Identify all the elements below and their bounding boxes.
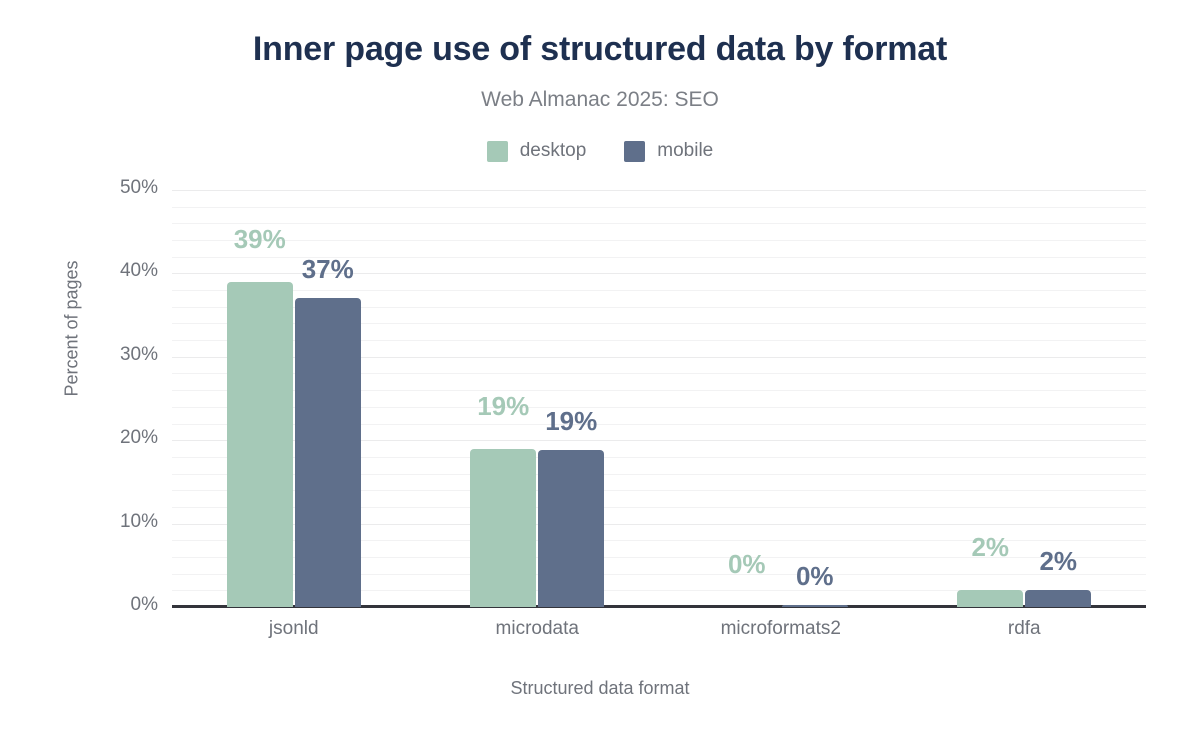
- legend-swatch-desktop: [487, 141, 508, 162]
- legend-item-desktop[interactable]: desktop: [487, 140, 587, 162]
- gridline: [172, 207, 1146, 208]
- gridline: [172, 290, 1146, 291]
- y-tick-label: 20%: [80, 427, 158, 449]
- bar-chart: Inner page use of structured data by for…: [0, 0, 1200, 742]
- bar-value-label-microdata-mobile: 19%: [516, 406, 626, 437]
- legend-label-mobile: mobile: [657, 140, 713, 162]
- legend-item-mobile[interactable]: mobile: [624, 140, 713, 162]
- bar-rdfa-mobile[interactable]: [1025, 590, 1091, 607]
- x-tick-label: rdfa: [884, 618, 1164, 640]
- bar-value-label-jsonld-mobile: 37%: [273, 254, 383, 285]
- chart-subtitle: Web Almanac 2025: SEO: [0, 88, 1200, 112]
- y-tick-label: 40%: [80, 260, 158, 282]
- gridline: [172, 240, 1146, 241]
- legend-label-desktop: desktop: [520, 140, 587, 162]
- bar-microformats2-mobile[interactable]: [782, 605, 848, 607]
- chart-legend: desktop mobile: [0, 140, 1200, 162]
- bar-rdfa-desktop[interactable]: [957, 590, 1023, 607]
- x-tick-label: jsonld: [154, 618, 434, 640]
- gridline: [172, 190, 1146, 191]
- bar-value-label-jsonld-desktop: 39%: [205, 224, 315, 255]
- x-tick-label: microformats2: [641, 618, 921, 640]
- y-tick-label: 0%: [80, 594, 158, 616]
- chart-title: Inner page use of structured data by for…: [0, 30, 1200, 69]
- bar-microdata-desktop[interactable]: [470, 449, 536, 607]
- gridline: [172, 223, 1146, 224]
- y-tick-label: 30%: [80, 344, 158, 366]
- bar-value-label-microformats2-mobile: 0%: [760, 561, 870, 592]
- legend-swatch-mobile: [624, 141, 645, 162]
- y-tick-label: 50%: [80, 177, 158, 199]
- bar-jsonld-desktop[interactable]: [227, 282, 293, 607]
- bar-microdata-mobile[interactable]: [538, 450, 604, 607]
- x-axis-title: Structured data format: [0, 678, 1200, 699]
- x-tick-label: microdata: [397, 618, 677, 640]
- bar-jsonld-mobile[interactable]: [295, 298, 361, 607]
- bar-value-label-rdfa-mobile: 2%: [1003, 546, 1113, 577]
- y-axis-title: Percent of pages: [62, 229, 83, 429]
- y-tick-label: 10%: [80, 511, 158, 533]
